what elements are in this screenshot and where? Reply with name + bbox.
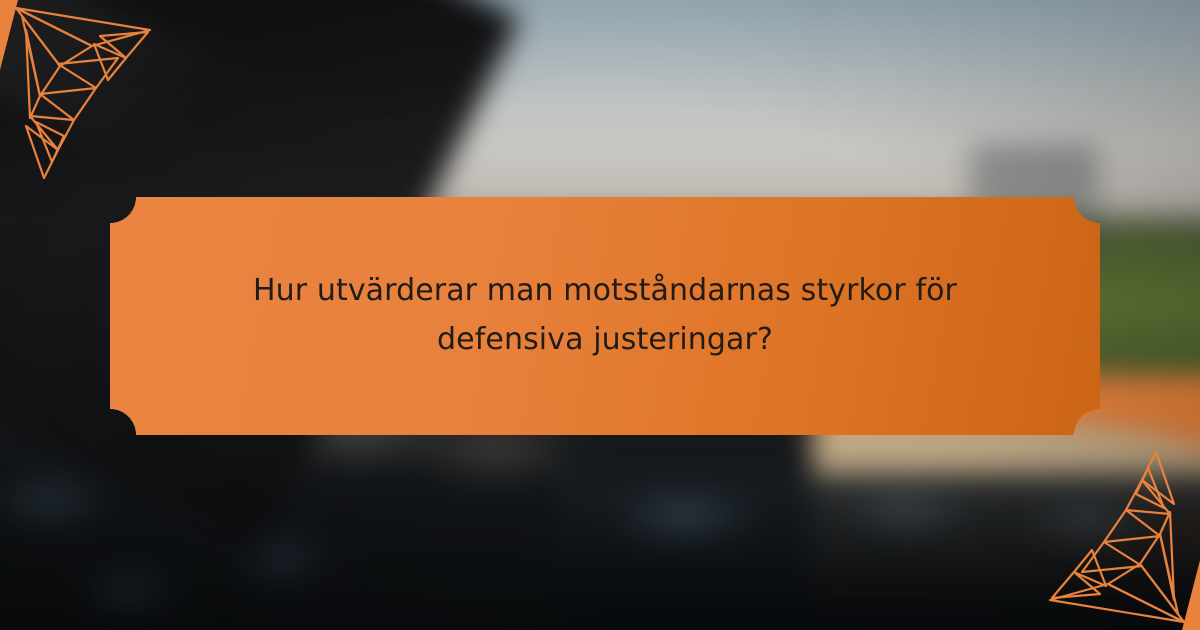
feather-ornament-top-left-icon: [0, 0, 200, 190]
headline-card: Hur utvärderar man motståndarnas styrkor…: [110, 197, 1100, 435]
feather-ornament-bottom-right-icon: [1000, 440, 1200, 630]
social-share-card: Hur utvärderar man motståndarnas styrkor…: [0, 0, 1200, 630]
card-title: Hur utvärderar man motståndarnas styrkor…: [175, 267, 1035, 364]
